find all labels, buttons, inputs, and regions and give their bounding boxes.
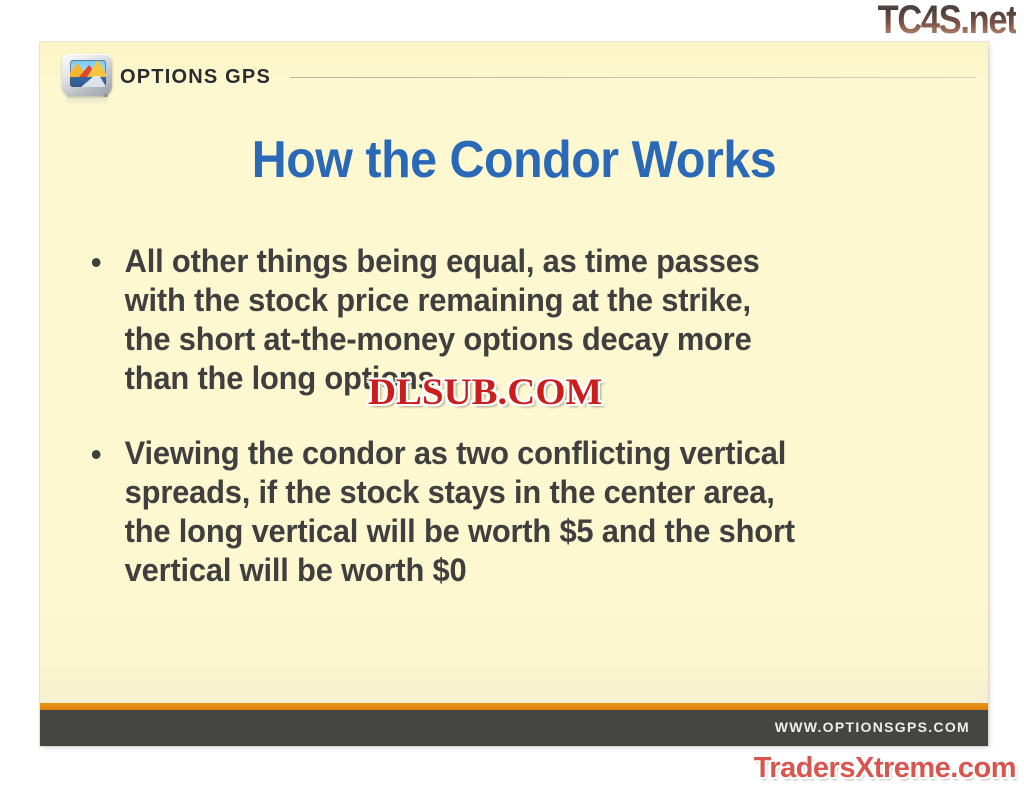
- page-title: How the Condor Works: [73, 130, 955, 190]
- slide-header: Options GPS: [40, 42, 988, 114]
- bullet-line: the short at-the-money options decay mor…: [125, 320, 928, 359]
- gps-device-reflection: [66, 94, 108, 106]
- bullet-line: vertical will be worth $0: [125, 551, 928, 590]
- bullet-line: Viewing the condor as two conflicting ve…: [125, 434, 928, 473]
- bullet-line: the long vertical will be worth $5 and t…: [125, 512, 928, 551]
- gps-device-screen: [70, 60, 106, 87]
- gps-device-icon: [60, 54, 114, 102]
- accent-bar: [40, 703, 988, 710]
- watermark-dlsub: DLSUB.COM: [368, 371, 602, 414]
- bullet-line: spreads, if the stock stays in the cente…: [125, 473, 928, 512]
- product-name-label: Options GPS: [120, 66, 271, 89]
- slide-footer: www.OptionsGPS.com: [40, 710, 988, 746]
- watermark-tradersxtreme: TradersXtreme.com: [754, 752, 1016, 785]
- bullet-line: with the stock price remaining at the st…: [125, 281, 928, 320]
- bullet-line: All other things being equal, as time pa…: [125, 242, 928, 281]
- header-divider-rule: [290, 77, 976, 78]
- tc4s-brand-mark: TC4S.net: [877, 0, 1016, 43]
- screen-road: [73, 76, 106, 87]
- footer-website-url: www.OptionsGPS.com: [775, 719, 970, 735]
- bullet-list: All other things being equal, as time pa…: [88, 242, 958, 626]
- list-item: Viewing the condor as two conflicting ve…: [88, 434, 928, 590]
